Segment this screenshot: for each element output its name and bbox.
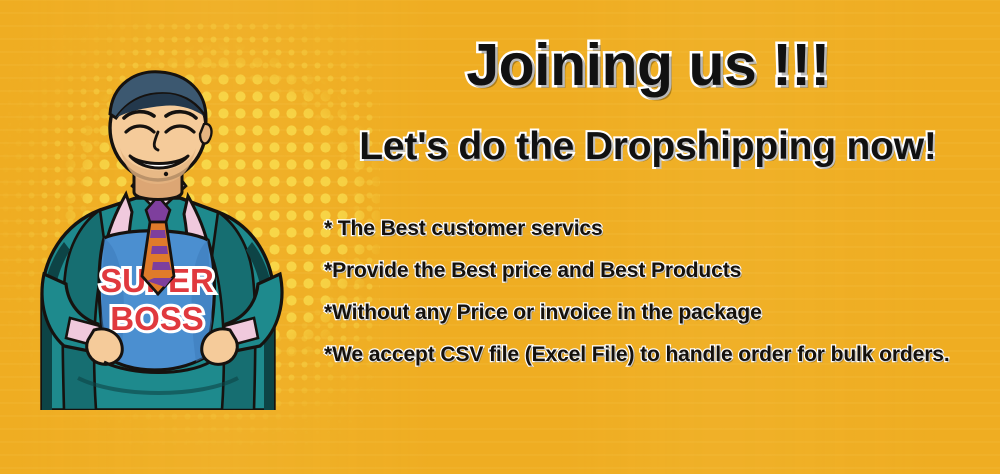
shirt-text-boss: BOSS [110,300,204,337]
necktie [142,196,174,294]
headline-primary: Joining us !!! [296,33,1000,97]
headline-secondary: Let's do the Dropshipping now! [296,125,1000,169]
feature-item-1: * The Best customer servics [324,218,1000,240]
feature-item-2: *Provide the Best price and Best Product… [324,260,1000,282]
ear [200,124,211,144]
hand-left [87,329,122,364]
super-boss-illustration: SUPER BOSS [8,62,318,410]
feature-item-4: *We accept CSV file (Excel File) to hand… [324,344,1000,366]
banner-copy: Joining us !!! Let's do the Dropshipping… [296,0,1000,474]
feature-item-3: *Without any Price or invoice in the pac… [324,302,1000,324]
chin-mole [164,172,168,176]
tie-stripe-3 [152,262,171,270]
tie-stripe-1 [150,230,166,238]
dropshipping-promo-banner: SUPER BOSS [0,0,1000,474]
tie-stripe-2 [151,246,168,254]
hand-right [202,329,237,364]
feature-list: * The Best customer servics *Provide the… [324,218,1000,366]
